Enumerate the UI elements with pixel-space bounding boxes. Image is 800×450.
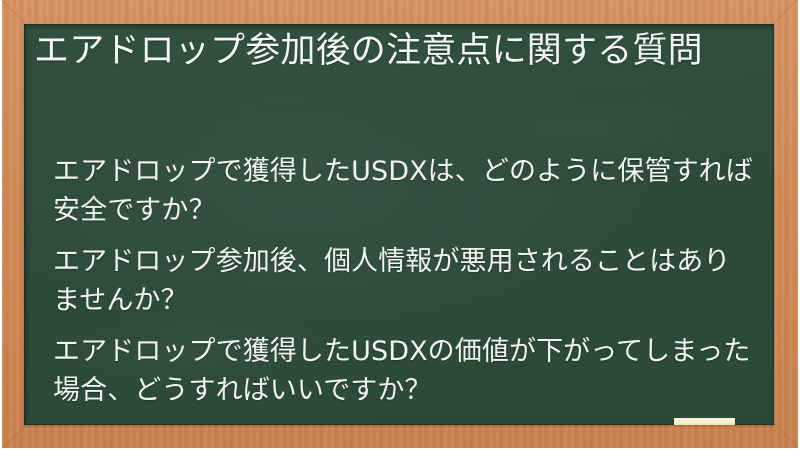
chalk-eraser <box>674 418 735 425</box>
slide-title: エアドロップ参加後の注意点に関する質問 <box>34 28 734 74</box>
question-item: エアドロップ参加後、個人情報が悪用されることはありませんか？ <box>53 242 753 320</box>
frame-corner-top-right <box>772 0 798 25</box>
frame-corner-bottom-right <box>773 422 799 448</box>
question-item: エアドロップで獲得したUSDXの価値が下がってしまった場合、どうすればいいですか… <box>53 332 753 410</box>
slide-canvas: エアドロップ参加後の注意点に関する質問 エアドロップで獲得したUSDXは、どのよ… <box>0 0 800 450</box>
frame-corner-top-left <box>1 0 27 26</box>
chalkboard-surface: エアドロップ参加後の注意点に関する質問 エアドロップで獲得したUSDXは、どのよ… <box>24 24 774 425</box>
question-item: エアドロップで獲得したUSDXは、どのように保管すれば安全ですか？ <box>53 152 753 230</box>
frame-corner-bottom-left <box>2 423 28 449</box>
question-list: エアドロップで獲得したUSDXは、どのように保管すれば安全ですか？ エアドロップ… <box>53 152 753 410</box>
